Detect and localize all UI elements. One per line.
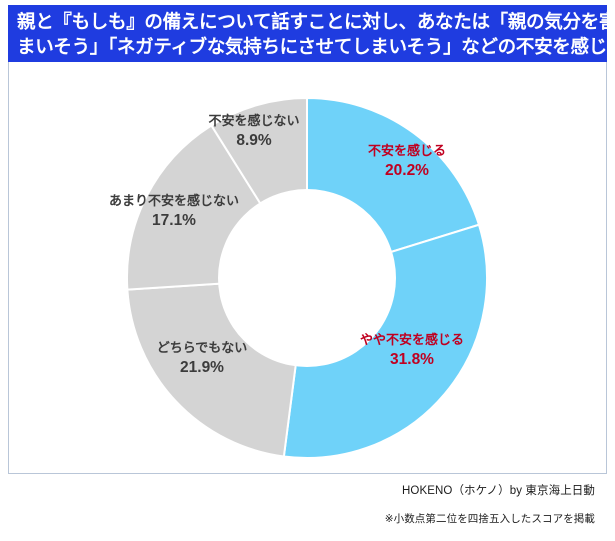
chart-title-line-2: まいそう」「ネガティブな気持ちにさせてしまいそう」などの不安を感じますか xyxy=(17,34,598,59)
slice-label-somewhat-anxious-name: やや不安を感じる xyxy=(326,331,498,348)
slice-label-not-anxious-value: 8.9% xyxy=(191,131,317,151)
slice-label-not-anxious: 不安を感じない 8.9% xyxy=(191,112,317,152)
slice-label-anxious-name: 不安を感じる xyxy=(331,142,483,159)
chart-footer: HOKENO（ホケノ）by 東京海上日動 ※小数点第二位を四捨五入したスコアを掲… xyxy=(8,482,607,526)
slice-label-slightly-not-anxious: あまり不安を感じない 17.1% xyxy=(104,192,244,232)
slice-label-neither-value: 21.9% xyxy=(137,358,267,378)
slice-label-anxious: 不安を感じる 20.2% xyxy=(331,142,483,182)
slice-label-neither: どちらでもない 21.9% xyxy=(137,339,267,379)
chart-title-bar: 親と『もしも』の備えについて話すことに対し、あなたは「親の気分を害してし まいそ… xyxy=(8,5,607,62)
slice-label-slightly-not-anxious-name: あまり不安を感じない xyxy=(104,192,244,209)
source-credit: HOKENO（ホケノ）by 東京海上日動 xyxy=(8,482,595,498)
slice-label-neither-name: どちらでもない xyxy=(137,339,267,356)
slice-label-anxious-value: 20.2% xyxy=(331,161,483,181)
slice-label-somewhat-anxious: やや不安を感じる 31.8% xyxy=(326,331,498,371)
slice-label-not-anxious-name: 不安を感じない xyxy=(191,112,317,129)
chart-title-line-1: 親と『もしも』の備えについて話すことに対し、あなたは「親の気分を害してし xyxy=(17,9,598,34)
slice-label-slightly-not-anxious-value: 17.1% xyxy=(104,211,244,231)
rounding-note: ※小数点第二位を四捨五入したスコアを掲載 xyxy=(8,511,595,526)
infographic-page: 親と『もしも』の備えについて話すことに対し、あなたは「親の気分を害してし まいそ… xyxy=(0,0,615,541)
slice-label-somewhat-anxious-value: 31.8% xyxy=(326,350,498,370)
